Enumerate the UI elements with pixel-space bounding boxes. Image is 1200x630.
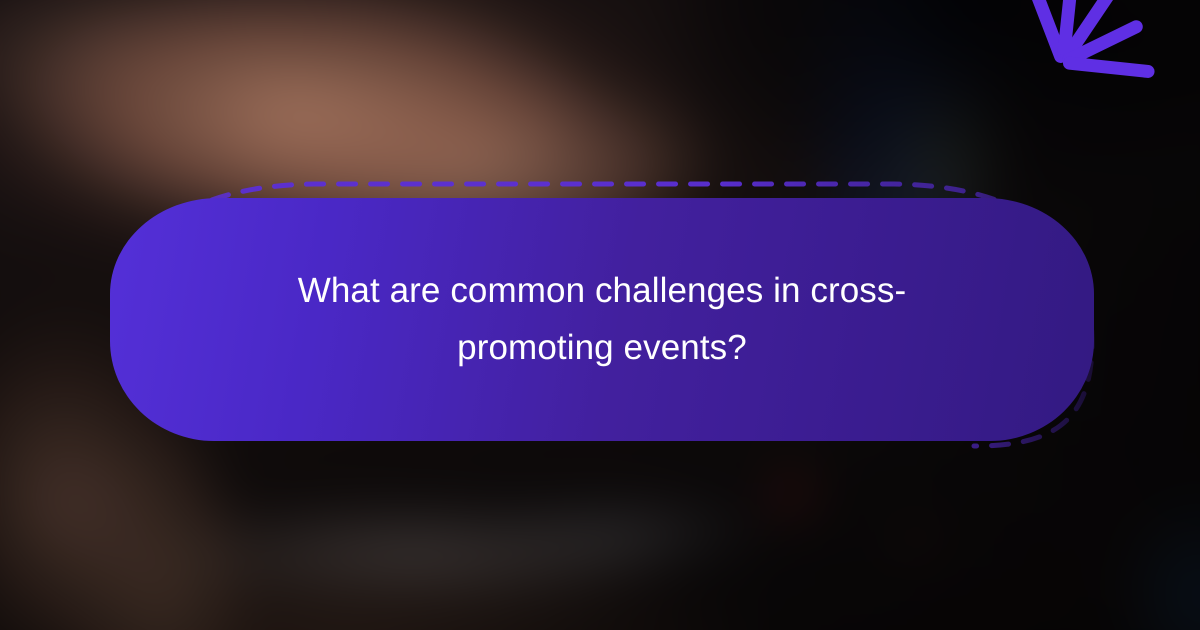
sparkle-burst-bottom-left-icon [0,470,170,630]
question-card: What are common challenges in cross-prom… [104,178,1100,448]
question-card-graphic: What are common challenges in cross-prom… [0,0,1200,630]
sparkle-ray [1062,56,1155,79]
sparkle-burst-top-right-icon [1055,0,1200,160]
card-surface: What are common challenges in cross-prom… [110,198,1094,441]
page-title: What are common challenges in cross-prom… [252,263,952,376]
